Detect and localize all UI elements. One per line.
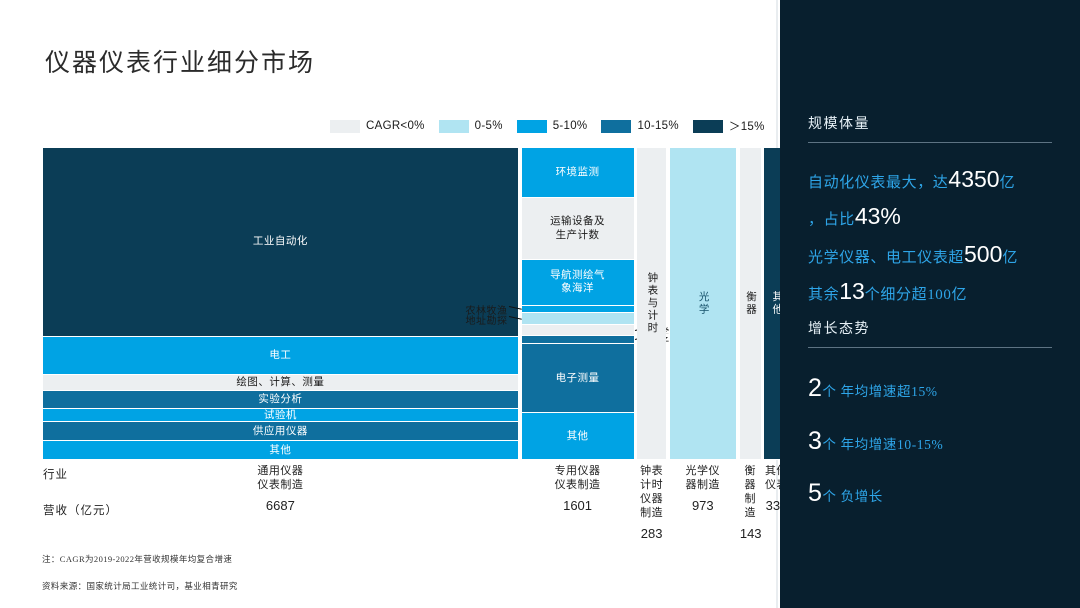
chart-cell-label: 电子测量 — [553, 372, 603, 385]
insight-scale-line-1: 自动化仪表最大，达4350亿 — [808, 161, 1052, 198]
chart-cell[interactable] — [522, 313, 634, 325]
legend-label: ＞15% — [729, 118, 765, 134]
chart-cell[interactable] — [522, 336, 634, 344]
growth-row-number: 5 — [808, 479, 823, 507]
axis-column-4: 衡器制造143 — [740, 464, 761, 541]
scale-line1-text-b: 亿 — [1000, 175, 1016, 191]
chart-cell-label: 钟表与计时 — [643, 272, 661, 335]
scale-line4-text-b: 个细分超100亿 — [865, 287, 967, 303]
axis-column-name: 光学仪器制造 — [670, 464, 736, 492]
chart-column-4[interactable]: 衡器 — [740, 148, 761, 460]
chart-cell-label: 其他 — [266, 444, 294, 457]
chart-cell[interactable]: 导航测绘气象海洋 — [522, 260, 634, 305]
chart-cell-label: 供应用仪器 — [250, 425, 311, 438]
axis-column-revenue: 283 — [637, 526, 665, 541]
chart-cell-label: 环境监测 — [553, 166, 603, 179]
axis-column-0: 通用仪器仪表制造6687 — [43, 464, 518, 513]
divider-growth — [808, 347, 1052, 348]
chart-cell-label: 光学 — [694, 291, 712, 316]
axis-column-2: 钟表计时仪器制造283 — [637, 464, 665, 541]
chart-annotation: 地址勘探 — [466, 312, 508, 327]
chart-cell-label: 试验机 — [261, 409, 300, 422]
growth-row-unit: 个 — [823, 437, 837, 452]
chart-cell[interactable]: 其他 — [43, 441, 518, 460]
legend-label: 10-15% — [637, 120, 678, 132]
insight-scale-line-2: ，占比43% — [808, 198, 1052, 235]
content-panel: 仪器仪表行业细分市场 CAGR<0%0-5%5-10%10-15%＞15% 工业… — [0, 0, 778, 608]
chart-column-2[interactable]: 钟表与计时 — [637, 148, 665, 460]
chart-cell-label: 实验分析 — [255, 393, 305, 406]
chart-column-3[interactable]: 光学 — [670, 148, 736, 460]
chart-cell[interactable]: 运输设备及生产计数 — [522, 198, 634, 260]
scale-line4-number: 13 — [839, 278, 865, 304]
chart-cell[interactable]: 钟表与计时 — [637, 148, 665, 460]
chart-cell-label: 导航测绘气象海洋 — [547, 269, 608, 295]
slide-root: 仪器仪表行业细分市场 CAGR<0%0-5%5-10%10-15%＞15% 工业… — [0, 0, 1080, 608]
legend-item-4: ＞15% — [693, 118, 765, 134]
growth-row-number: 2 — [808, 374, 823, 402]
chart-cell-label: 其他 — [564, 430, 592, 443]
scale-line2-text-a: ，占比 — [808, 212, 855, 228]
chart-cell[interactable]: 绘图、计算、测量 — [43, 375, 518, 391]
insight-section-growth: 增长态势 2个 年均增速超15%3个 年均增速10-15%5个 负增长 — [808, 318, 1052, 520]
legend-swatch-icon — [439, 120, 469, 133]
axis-column-name: 通用仪器仪表制造 — [43, 464, 518, 492]
growth-row-text: 年均增速超15% — [841, 384, 938, 399]
legend-item-3: 10-15% — [601, 120, 678, 133]
axis-column-3: 光学仪器制造973 — [670, 464, 736, 513]
growth-row-number: 3 — [808, 427, 823, 455]
scale-line3-text-b: 亿 — [1002, 250, 1018, 266]
legend-swatch-icon — [330, 120, 360, 133]
axis-column-name: 专用仪器仪表制造 — [522, 464, 634, 492]
chart-axis-table: 行业 营收（亿元） 通用仪器仪表制造6687专用仪器仪表制造1601钟表计时仪器… — [43, 464, 743, 520]
axis-column-revenue: 973 — [670, 498, 736, 513]
growth-row-2: 5个 负增长 — [808, 467, 1052, 520]
chart-cell-label: 衡器 — [741, 291, 759, 316]
growth-row-unit: 个 — [823, 384, 837, 399]
chart-cell[interactable]: 衡器 — [740, 148, 761, 460]
page-title: 仪器仪表行业细分市场 — [45, 43, 315, 79]
chart-cell[interactable]: 电子测量 — [522, 344, 634, 413]
chart-cell[interactable]: 供应用仪器 — [43, 422, 518, 441]
axis-column-revenue: 1601 — [522, 498, 634, 513]
scale-line2-number: 43% — [855, 203, 901, 229]
chart-cell-label: 运输设备及生产计数 — [547, 215, 608, 241]
chart-legend: CAGR<0%0-5%5-10%10-15%＞15% — [330, 118, 765, 134]
legend-item-2: 5-10% — [517, 120, 588, 133]
chart-cell-label: 工业自动化 — [250, 235, 311, 248]
chart-column-1[interactable]: 环境监测运输设备及生产计数导航测绘气象海洋电子测量其他 — [522, 148, 634, 460]
growth-row-unit: 个 — [823, 489, 837, 504]
chart-cell[interactable]: 工业自动化 — [43, 148, 518, 337]
chart-cell[interactable]: 电工 — [43, 337, 518, 375]
chart-cell-label: 绘图、计算、测量 — [233, 376, 327, 389]
footnote-cagr: 注：CAGR为2019-2022年营收规模年均复合增速 — [42, 553, 232, 565]
chart-cell[interactable] — [522, 306, 634, 313]
axis-column-name: 衡器制造 — [740, 464, 761, 520]
marimekko-chart: 工业自动化电工绘图、计算、测量实验分析试验机供应用仪器其他环境监测运输设备及生产… — [43, 148, 735, 460]
chart-cell[interactable]: 试验机 — [43, 409, 518, 422]
insight-growth-title: 增长态势 — [808, 318, 1052, 338]
legend-label: 5-10% — [553, 120, 588, 132]
axis-column-1: 专用仪器仪表制造1601 — [522, 464, 634, 513]
scale-line3-number: 500 — [964, 241, 1002, 267]
insight-scale-line-4: 其余13个细分超100亿 — [808, 273, 1052, 310]
chart-cell[interactable]: 实验分析 — [43, 391, 518, 409]
axis-column-revenue: 143 — [740, 526, 761, 541]
chart-cell[interactable]: 环境监测 — [522, 148, 634, 198]
divider-scale — [808, 142, 1052, 143]
legend-swatch-icon — [601, 120, 631, 133]
growth-row-text: 年均增速10-15% — [841, 437, 944, 452]
legend-label: 0-5% — [475, 120, 503, 132]
scale-line1-number: 4350 — [948, 166, 999, 192]
chart-cell-label: 电工 — [266, 349, 294, 362]
axis-column-name: 钟表计时仪器制造 — [637, 464, 665, 520]
legend-swatch-icon — [517, 120, 547, 133]
chart-column-0[interactable]: 工业自动化电工绘图、计算、测量实验分析试验机供应用仪器其他 — [43, 148, 518, 460]
growth-row-text: 负增长 — [841, 489, 883, 504]
axis-column-revenue: 6687 — [43, 498, 518, 513]
growth-row-0: 2个 年均增速超15% — [808, 362, 1052, 415]
insight-scale-line-3: 光学仪器、电工仪表超500亿 — [808, 236, 1052, 273]
footnote-source: 资料来源：国家统计局工业统计司，基业相青研究 — [42, 580, 238, 592]
legend-swatch-icon — [693, 120, 723, 133]
scale-line1-text-a: 自动化仪表最大，达 — [808, 175, 948, 191]
insight-section-scale: 规模体量 自动化仪表最大，达4350亿 ，占比43% 光学仪器、电工仪表超500… — [808, 113, 1052, 310]
legend-item-1: 0-5% — [439, 120, 503, 133]
legend-item-0: CAGR<0% — [330, 120, 425, 133]
scale-line3-text-a: 光学仪器、电工仪表超 — [808, 250, 964, 266]
chart-cell[interactable] — [522, 325, 634, 336]
insights-panel: 规模体量 自动化仪表最大，达4350亿 ，占比43% 光学仪器、电工仪表超500… — [780, 0, 1080, 608]
scale-line4-text-a: 其余 — [808, 287, 839, 303]
chart-cell[interactable]: 光学 — [670, 148, 736, 460]
growth-row-1: 3个 年均增速10-15% — [808, 415, 1052, 468]
insight-scale-title: 规模体量 — [808, 113, 1052, 133]
legend-label: CAGR<0% — [366, 120, 425, 132]
chart-cell[interactable]: 其他 — [522, 413, 634, 460]
